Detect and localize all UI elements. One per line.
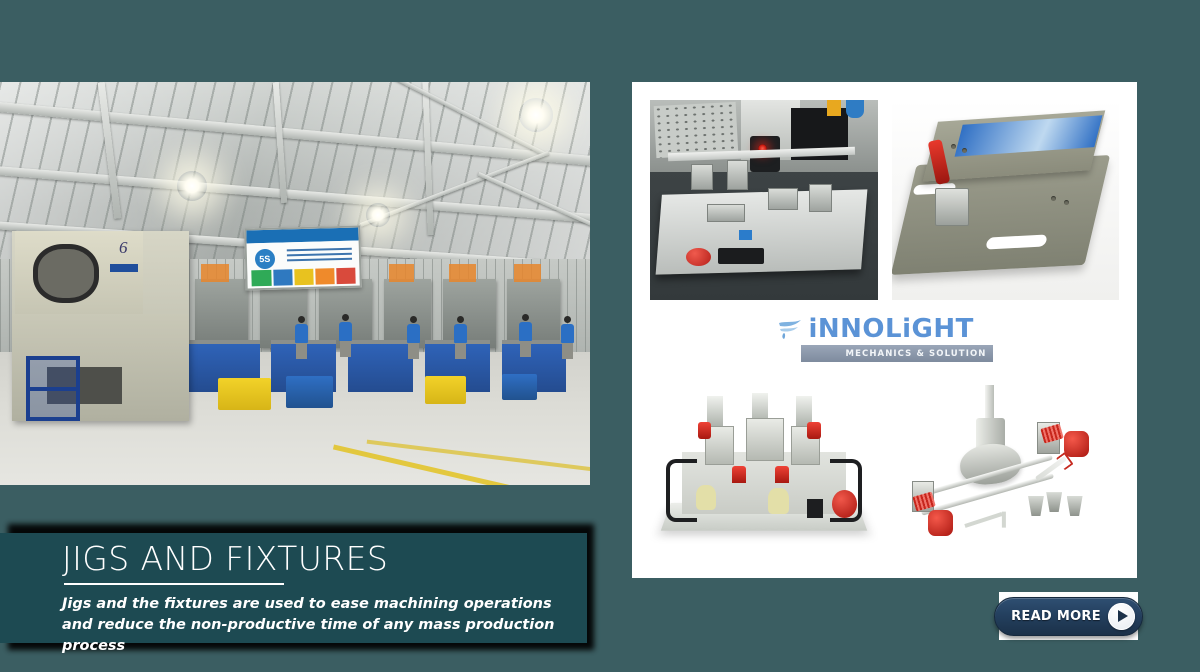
workbench	[348, 340, 413, 392]
drill-bushing-bit	[1067, 496, 1083, 516]
swoosh-icon	[777, 318, 803, 340]
nylon-locator	[768, 488, 788, 514]
factory-workshop-photo: 5S	[0, 82, 590, 485]
play-icon[interactable]	[1108, 603, 1135, 630]
worker-figure	[561, 316, 574, 359]
worker-figure	[295, 316, 308, 359]
allen-key-tool	[965, 512, 1003, 528]
five-s-badge: 5S	[254, 249, 275, 270]
worker-figure	[407, 316, 420, 359]
black-rest-pad	[718, 248, 764, 264]
fixture-clamp	[809, 184, 831, 212]
mounting-hole	[951, 144, 956, 149]
drill-jig-assembly-photo[interactable]	[892, 378, 1120, 562]
cnc-tool-changer-ring	[33, 244, 99, 302]
toggle-clamp-body	[935, 188, 969, 226]
board-column	[252, 270, 271, 286]
fixture-clamp	[691, 164, 713, 190]
page-title: JIGS AND FIXTURES	[62, 541, 587, 578]
back-machine	[507, 279, 560, 348]
fixture-block	[746, 418, 784, 460]
red-clamp-cap	[732, 466, 746, 483]
drill-bushing-bit	[1028, 496, 1044, 516]
red-clamp-cap	[775, 466, 789, 483]
fixture-clamp	[768, 188, 797, 210]
nylon-locator	[696, 485, 716, 511]
board-category-columns	[252, 267, 356, 286]
blue-machine-part	[846, 100, 864, 118]
cnc-machine: 6	[12, 231, 189, 420]
worker-figure	[454, 316, 467, 359]
perforated-plate	[653, 102, 737, 158]
brand-tagline-bar: MECHANICS & SOLUTION	[801, 345, 993, 362]
brand-logo-wrap: iNNOLiGHT MECHANICS & SOLUTION	[777, 316, 993, 362]
board-body: 5S	[246, 240, 359, 288]
red-knob	[1064, 431, 1089, 457]
blue-locator-tab	[739, 230, 753, 240]
page-subtitle: Jigs and the fixtures are used to ease m…	[62, 594, 587, 657]
back-machine	[443, 279, 496, 348]
blue-tool-cart	[26, 356, 80, 421]
factory-scene: 5S	[0, 82, 590, 485]
slide-root: 5S	[0, 0, 1200, 672]
red-disc-knob	[832, 490, 857, 518]
storage-crate	[286, 376, 333, 408]
brand-tagline: MECHANICS & SOLUTION	[846, 349, 987, 359]
carry-handle	[666, 459, 697, 522]
toggle-clamp-fixture-photo[interactable]	[892, 100, 1120, 300]
red-clamp-cap	[807, 422, 821, 439]
board-column	[336, 267, 355, 283]
read-more-label: READ MORE	[1011, 609, 1101, 624]
red-clamp-cap	[698, 422, 712, 439]
multi-clamp-checking-fixture-photo[interactable]	[650, 378, 878, 562]
brand-name: iNNOLiGHT	[809, 316, 974, 342]
board-column	[315, 268, 334, 284]
board-column	[294, 269, 313, 285]
board-column	[273, 269, 292, 285]
title-divider	[64, 583, 284, 585]
brand-logo: iNNOLiGHT MECHANICS & SOLUTION	[650, 300, 1119, 378]
mounting-hole	[962, 148, 967, 153]
read-more-plate: READ MORE	[999, 592, 1138, 640]
black-pad	[807, 499, 823, 517]
drill-bushing-bit	[1046, 492, 1062, 512]
five-s-notice-board: 5S	[244, 226, 362, 291]
storage-crate	[425, 376, 466, 404]
product-gallery-card: iNNOLiGHT MECHANICS & SOLUTION	[632, 82, 1137, 578]
board-text-lines	[287, 248, 352, 265]
cnc-head: 6	[15, 231, 142, 316]
mounting-hole	[1051, 196, 1056, 201]
machine-number-label: 6	[119, 238, 128, 258]
ceiling-lamp	[366, 203, 390, 227]
fixture-clamp	[707, 204, 745, 222]
fixture-clamp	[727, 160, 747, 190]
brand-logo-main: iNNOLiGHT	[777, 316, 993, 342]
storage-crate	[218, 378, 271, 410]
cmm-inspection-fixture-photo[interactable]	[650, 100, 878, 300]
title-card: JIGS AND FIXTURES Jigs and the fixtures …	[0, 533, 587, 643]
ceiling-lamp	[177, 171, 207, 201]
worker-figure	[519, 314, 532, 357]
storage-crate	[502, 374, 537, 400]
back-machine	[195, 279, 248, 348]
red-knob	[928, 510, 953, 536]
cnc-brand-badge	[110, 264, 138, 271]
worker-figure	[339, 314, 352, 357]
yellow-machine-part	[827, 100, 841, 116]
floor-marking-line	[366, 440, 590, 473]
product-gallery-grid: iNNOLiGHT MECHANICS & SOLUTION	[650, 100, 1119, 562]
read-more-button[interactable]: READ MORE	[994, 597, 1143, 636]
play-triangle	[1118, 610, 1128, 622]
